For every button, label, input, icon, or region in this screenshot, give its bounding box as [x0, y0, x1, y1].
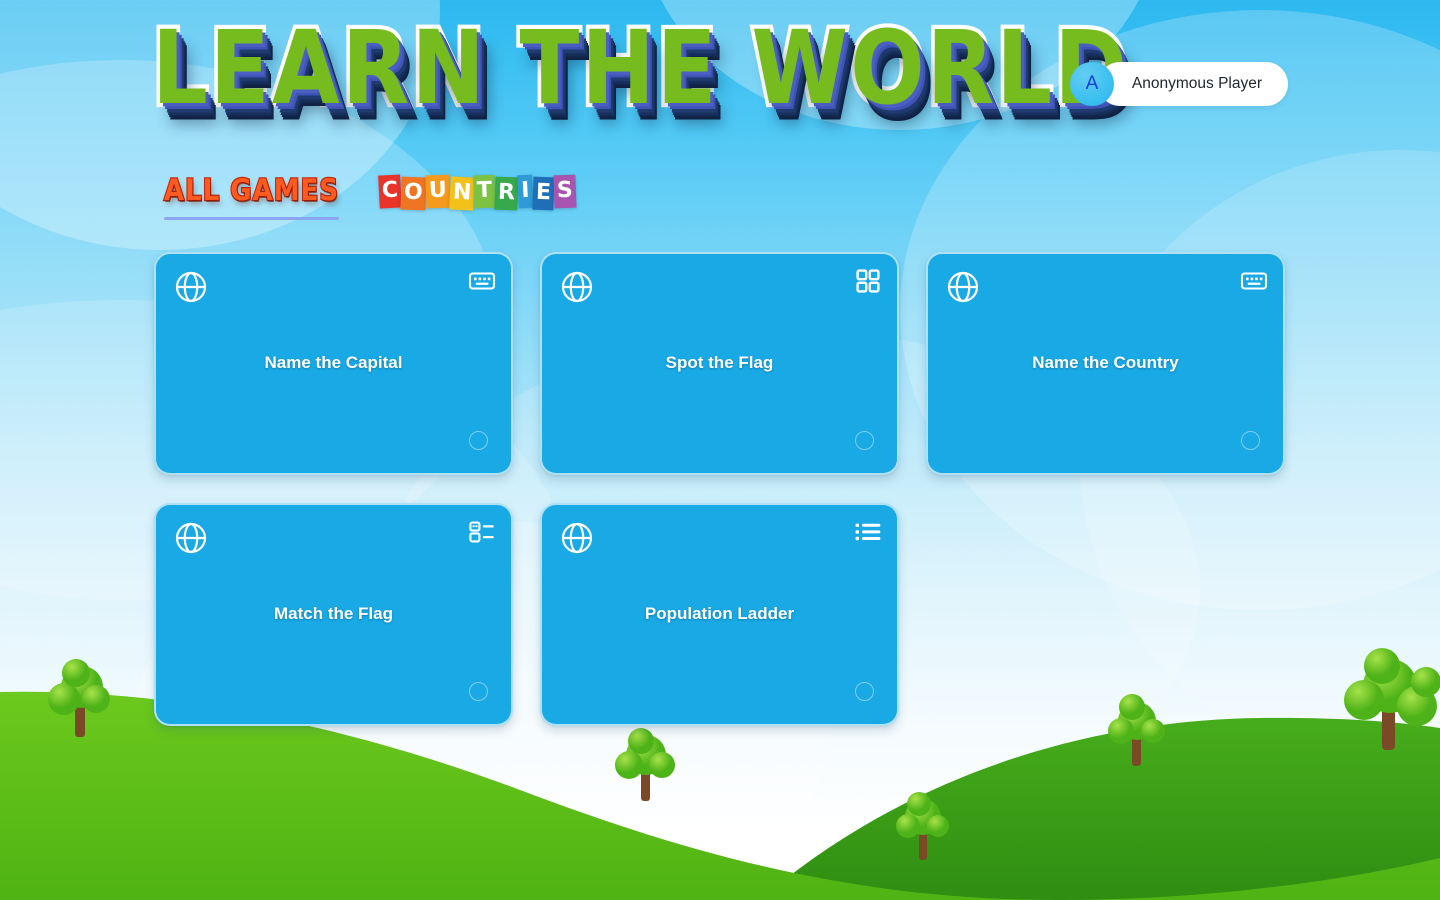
avatar[interactable]: A [1070, 62, 1114, 106]
user-name-label: Anonymous Player [1132, 75, 1262, 93]
tab-countries-letter: I [517, 175, 534, 209]
tree-illustration [608, 725, 684, 807]
tab-all-games-label: ALL GAMES [164, 174, 339, 208]
page-header: LEARN THE WORLD A Anonymous Player [0, 0, 1440, 150]
game-card[interactable]: Name the Country [926, 252, 1285, 475]
tab-countries-letter: R [495, 177, 519, 211]
tab-countries-letter: U [425, 175, 450, 209]
tab-countries-letter: S [554, 175, 577, 209]
tab-all-games[interactable]: ALL GAMES [164, 176, 339, 220]
tab-countries-letter: N [449, 176, 475, 210]
game-card-status-dot [469, 682, 488, 701]
tab-countries[interactable]: COUNTRIES [379, 176, 576, 223]
game-card[interactable]: Name the Capital [154, 252, 513, 475]
tree-illustration [890, 790, 958, 864]
game-card-status-dot [469, 431, 488, 450]
game-card-title: Name the Country [928, 254, 1283, 473]
tab-countries-label: COUNTRIES [379, 176, 576, 209]
user-name-pill[interactable]: Anonymous Player [1098, 62, 1288, 106]
app-logo: LEARN THE WORLD [152, 18, 1129, 119]
game-card-status-dot [855, 682, 874, 701]
game-card-status-dot [855, 431, 874, 450]
app-logo-text: LEARN THE WORLD [152, 18, 1129, 119]
tab-countries-letter: O [401, 177, 427, 211]
tab-active-underline [164, 217, 339, 220]
game-category-tabs: ALL GAMES COUNTRIES [164, 176, 576, 223]
tab-countries-letter: T [474, 175, 496, 209]
game-card[interactable]: Match the Flag [154, 503, 513, 726]
user-account-area[interactable]: A Anonymous Player [1070, 62, 1288, 106]
avatar-initial: A [1086, 73, 1099, 95]
game-card-status-dot [1241, 431, 1260, 450]
tree-illustration [40, 655, 120, 745]
tree-illustration [1338, 648, 1440, 758]
game-card-title: Match the Flag [156, 505, 511, 724]
tab-countries-letter: C [378, 174, 402, 208]
game-card-title: Spot the Flag [542, 254, 897, 473]
game-card-title: Name the Capital [156, 254, 511, 473]
game-card-grid: Name the Capital Spot the Flag Name the … [154, 252, 1287, 726]
game-card-title: Population Ladder [542, 505, 897, 724]
hill-back [760, 718, 1440, 900]
game-card[interactable]: Spot the Flag [540, 252, 899, 475]
game-card[interactable]: Population Ladder [540, 503, 899, 726]
tab-countries-letter: E [533, 177, 555, 211]
